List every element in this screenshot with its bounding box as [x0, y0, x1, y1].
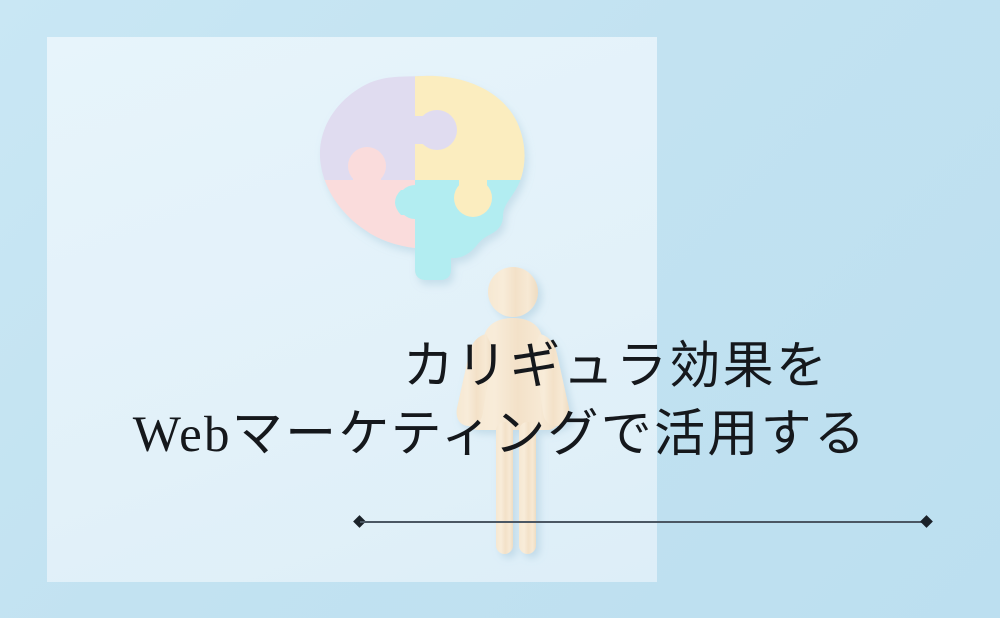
figure-left-leg: [496, 422, 513, 554]
figure-head: [488, 267, 538, 317]
divider: [355, 516, 931, 528]
brain-puzzle-illustration: [305, 70, 535, 285]
poster-canvas: カリギュラ効果を Webマーケティングで活用する: [0, 0, 1000, 618]
divider-cap-right: [920, 515, 933, 528]
divider-line: [360, 521, 926, 523]
figure-right-leg: [519, 422, 536, 554]
